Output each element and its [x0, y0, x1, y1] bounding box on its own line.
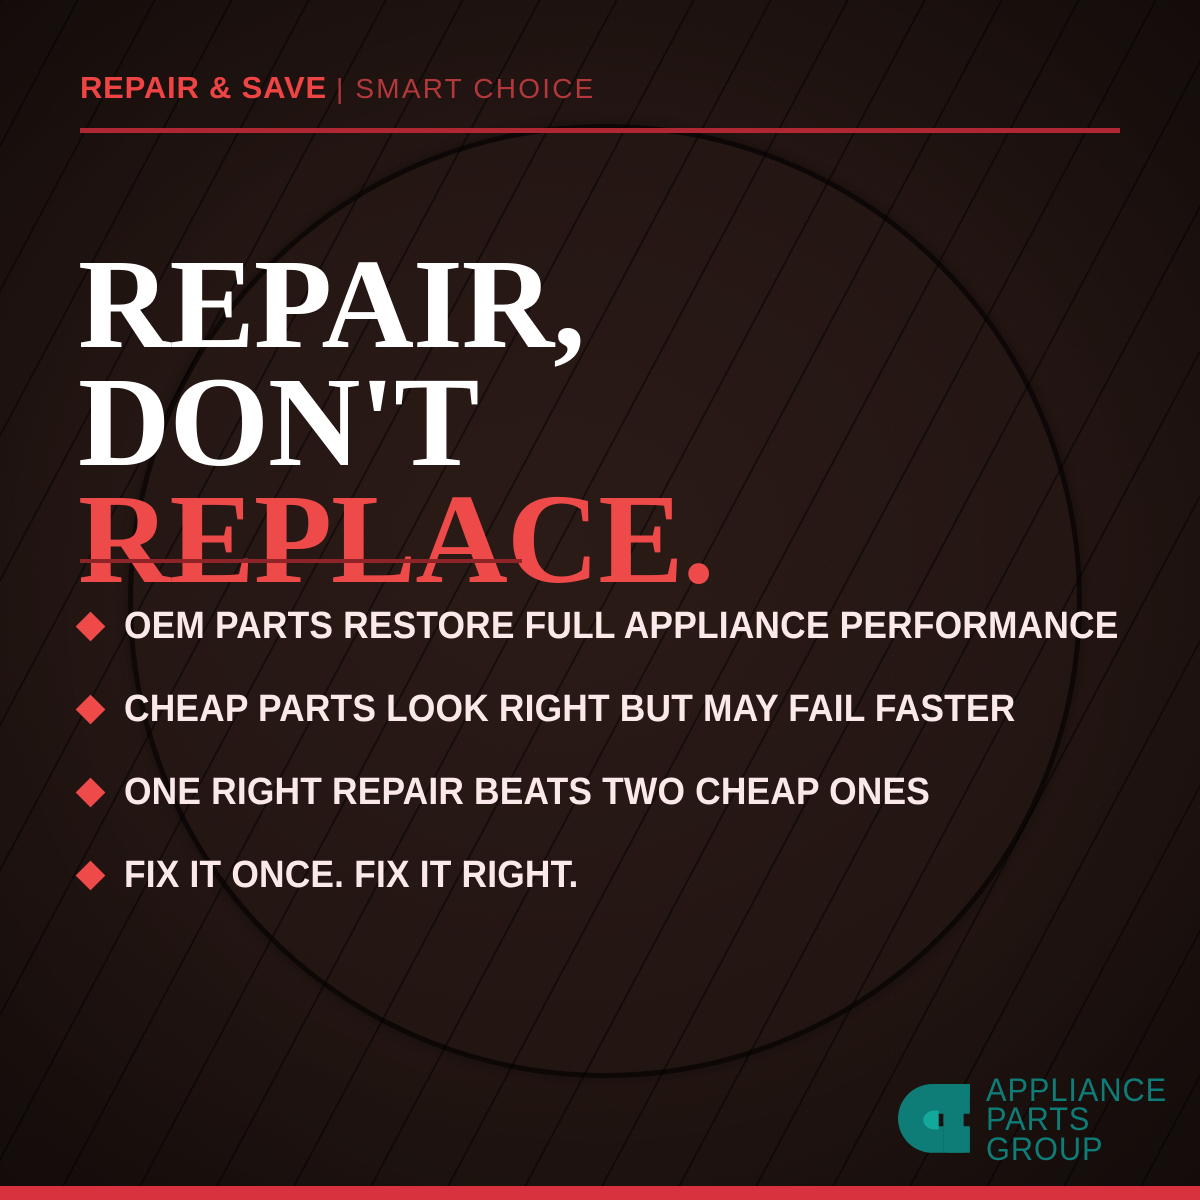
- bullet-list: OEM PARTS RESTORE FULL APPLIANCE PERFORM…: [80, 585, 1160, 917]
- g-monogram-icon: [895, 1081, 973, 1159]
- brand-logo-wordmark: APPLIANCE PARTS GROUP: [986, 1076, 1175, 1164]
- list-item: FIX IT ONCE. FIX IT RIGHT.: [80, 834, 1160, 917]
- list-item: CHEAP PARTS LOOK RIGHT BUT MAY FAIL FAST…: [80, 668, 1160, 751]
- bullet-label: CHEAP PARTS LOOK RIGHT BUT MAY FAIL FAST…: [124, 688, 1015, 731]
- brand-logo-line-3: GROUP: [986, 1135, 1167, 1164]
- kicker-main-label: REPAIR & SAVE: [80, 70, 327, 105]
- poster-canvas: REPAIR & SAVE| SMART CHOICE REPAIR, DON'…: [0, 0, 1200, 1200]
- list-item: OEM PARTS RESTORE FULL APPLIANCE PERFORM…: [80, 585, 1160, 668]
- poster-content: REPAIR & SAVE| SMART CHOICE REPAIR, DON'…: [0, 0, 1200, 1200]
- headline-line-2: DON'T: [78, 364, 1138, 482]
- bullet-label: OEM PARTS RESTORE FULL APPLIANCE PERFORM…: [124, 605, 1119, 648]
- headline: REPAIR, DON'T REPLACE.: [78, 246, 1138, 599]
- diamond-bullet-icon: [76, 778, 106, 808]
- list-item: ONE RIGHT REPAIR BEATS TWO CHEAP ONES: [80, 751, 1160, 834]
- bottom-accent-bar: [0, 1186, 1200, 1200]
- diamond-bullet-icon: [76, 612, 106, 642]
- mid-divider-rule: [80, 559, 522, 563]
- bullet-label: ONE RIGHT REPAIR BEATS TWO CHEAP ONES: [124, 771, 930, 814]
- kicker-eyebrow: REPAIR & SAVE| SMART CHOICE: [80, 72, 596, 103]
- diamond-bullet-icon: [76, 695, 106, 725]
- headline-line-1: REPAIR,: [78, 246, 1138, 364]
- bullet-label: FIX IT ONCE. FIX IT RIGHT.: [124, 854, 578, 897]
- kicker-sub-label: | SMART CHOICE: [336, 73, 596, 104]
- brand-logo: APPLIANCE PARTS GROUP: [895, 1076, 1175, 1164]
- diamond-bullet-icon: [76, 861, 106, 891]
- top-divider-rule: [80, 128, 1120, 133]
- headline-line-3-accent: REPLACE.: [78, 481, 1138, 599]
